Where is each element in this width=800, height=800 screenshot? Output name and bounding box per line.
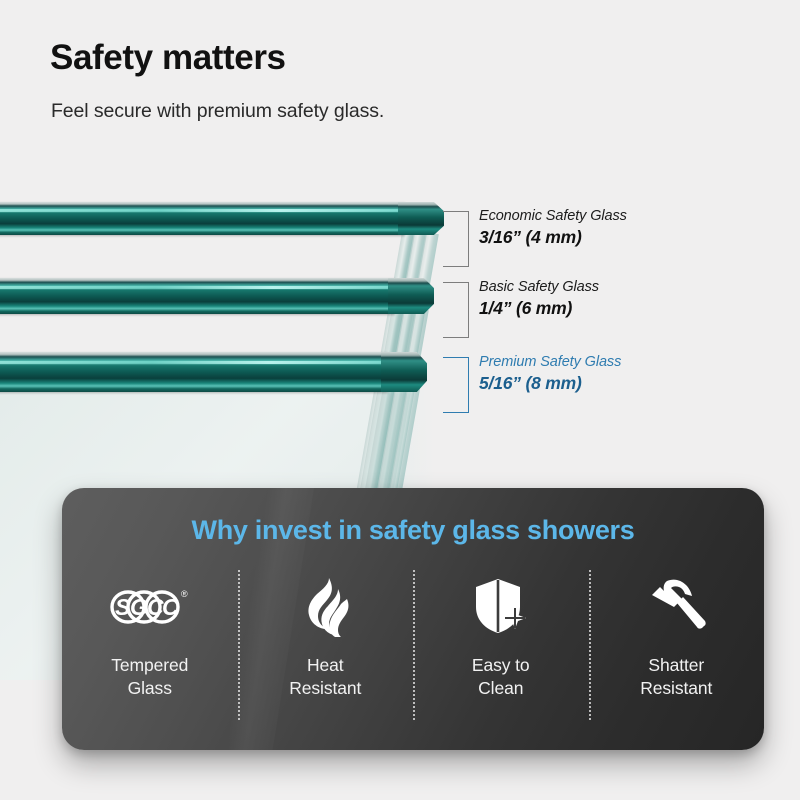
benefit-heat-resistant: Heat Resistant (238, 576, 414, 700)
sgcc-certification-icon: S G C C ® (107, 576, 193, 638)
callout-name: Basic Safety Glass (479, 279, 599, 295)
svg-text:G: G (130, 594, 148, 620)
benefits-card-title: Why invest in safety glass showers (62, 515, 764, 546)
callout-bracket-icon (443, 211, 469, 267)
benefits-card: Why invest in safety glass showers S G (62, 488, 764, 750)
callout-bracket-icon (443, 282, 469, 338)
benefits-list: S G C C ® Tempered Glass (62, 576, 764, 700)
shield-sparkle-icon (472, 576, 530, 638)
svg-text:S: S (115, 594, 131, 620)
benefit-easy-to-clean: Easy to Clean (413, 576, 589, 700)
svg-text:®: ® (181, 589, 188, 599)
hammer-icon (644, 576, 708, 638)
flame-icon (298, 576, 352, 638)
callout-size: 3/16” (4 mm) (479, 227, 627, 248)
benefit-tempered-glass: S G C C ® Tempered Glass (62, 576, 238, 700)
page-subtitle: Feel secure with premium safety glass. (51, 100, 384, 123)
page-title: Safety matters (50, 38, 286, 78)
callout-name: Economic Safety Glass (479, 208, 627, 224)
benefit-label: Tempered Glass (111, 654, 188, 700)
benefit-label: Shatter Resistant (640, 654, 712, 700)
callout-name: Premium Safety Glass (479, 354, 621, 370)
infographic-root: Safety matters Feel secure with premium … (0, 0, 800, 800)
benefit-shatter-resistant: Shatter Resistant (589, 576, 765, 700)
benefit-label: Heat Resistant (289, 654, 361, 700)
svg-text:C: C (162, 594, 179, 620)
callout-size: 1/4” (6 mm) (479, 298, 599, 319)
callout-size: 5/16” (8 mm) (479, 373, 621, 394)
callout-bracket-icon (443, 357, 469, 413)
benefit-label: Easy to Clean (472, 654, 530, 700)
